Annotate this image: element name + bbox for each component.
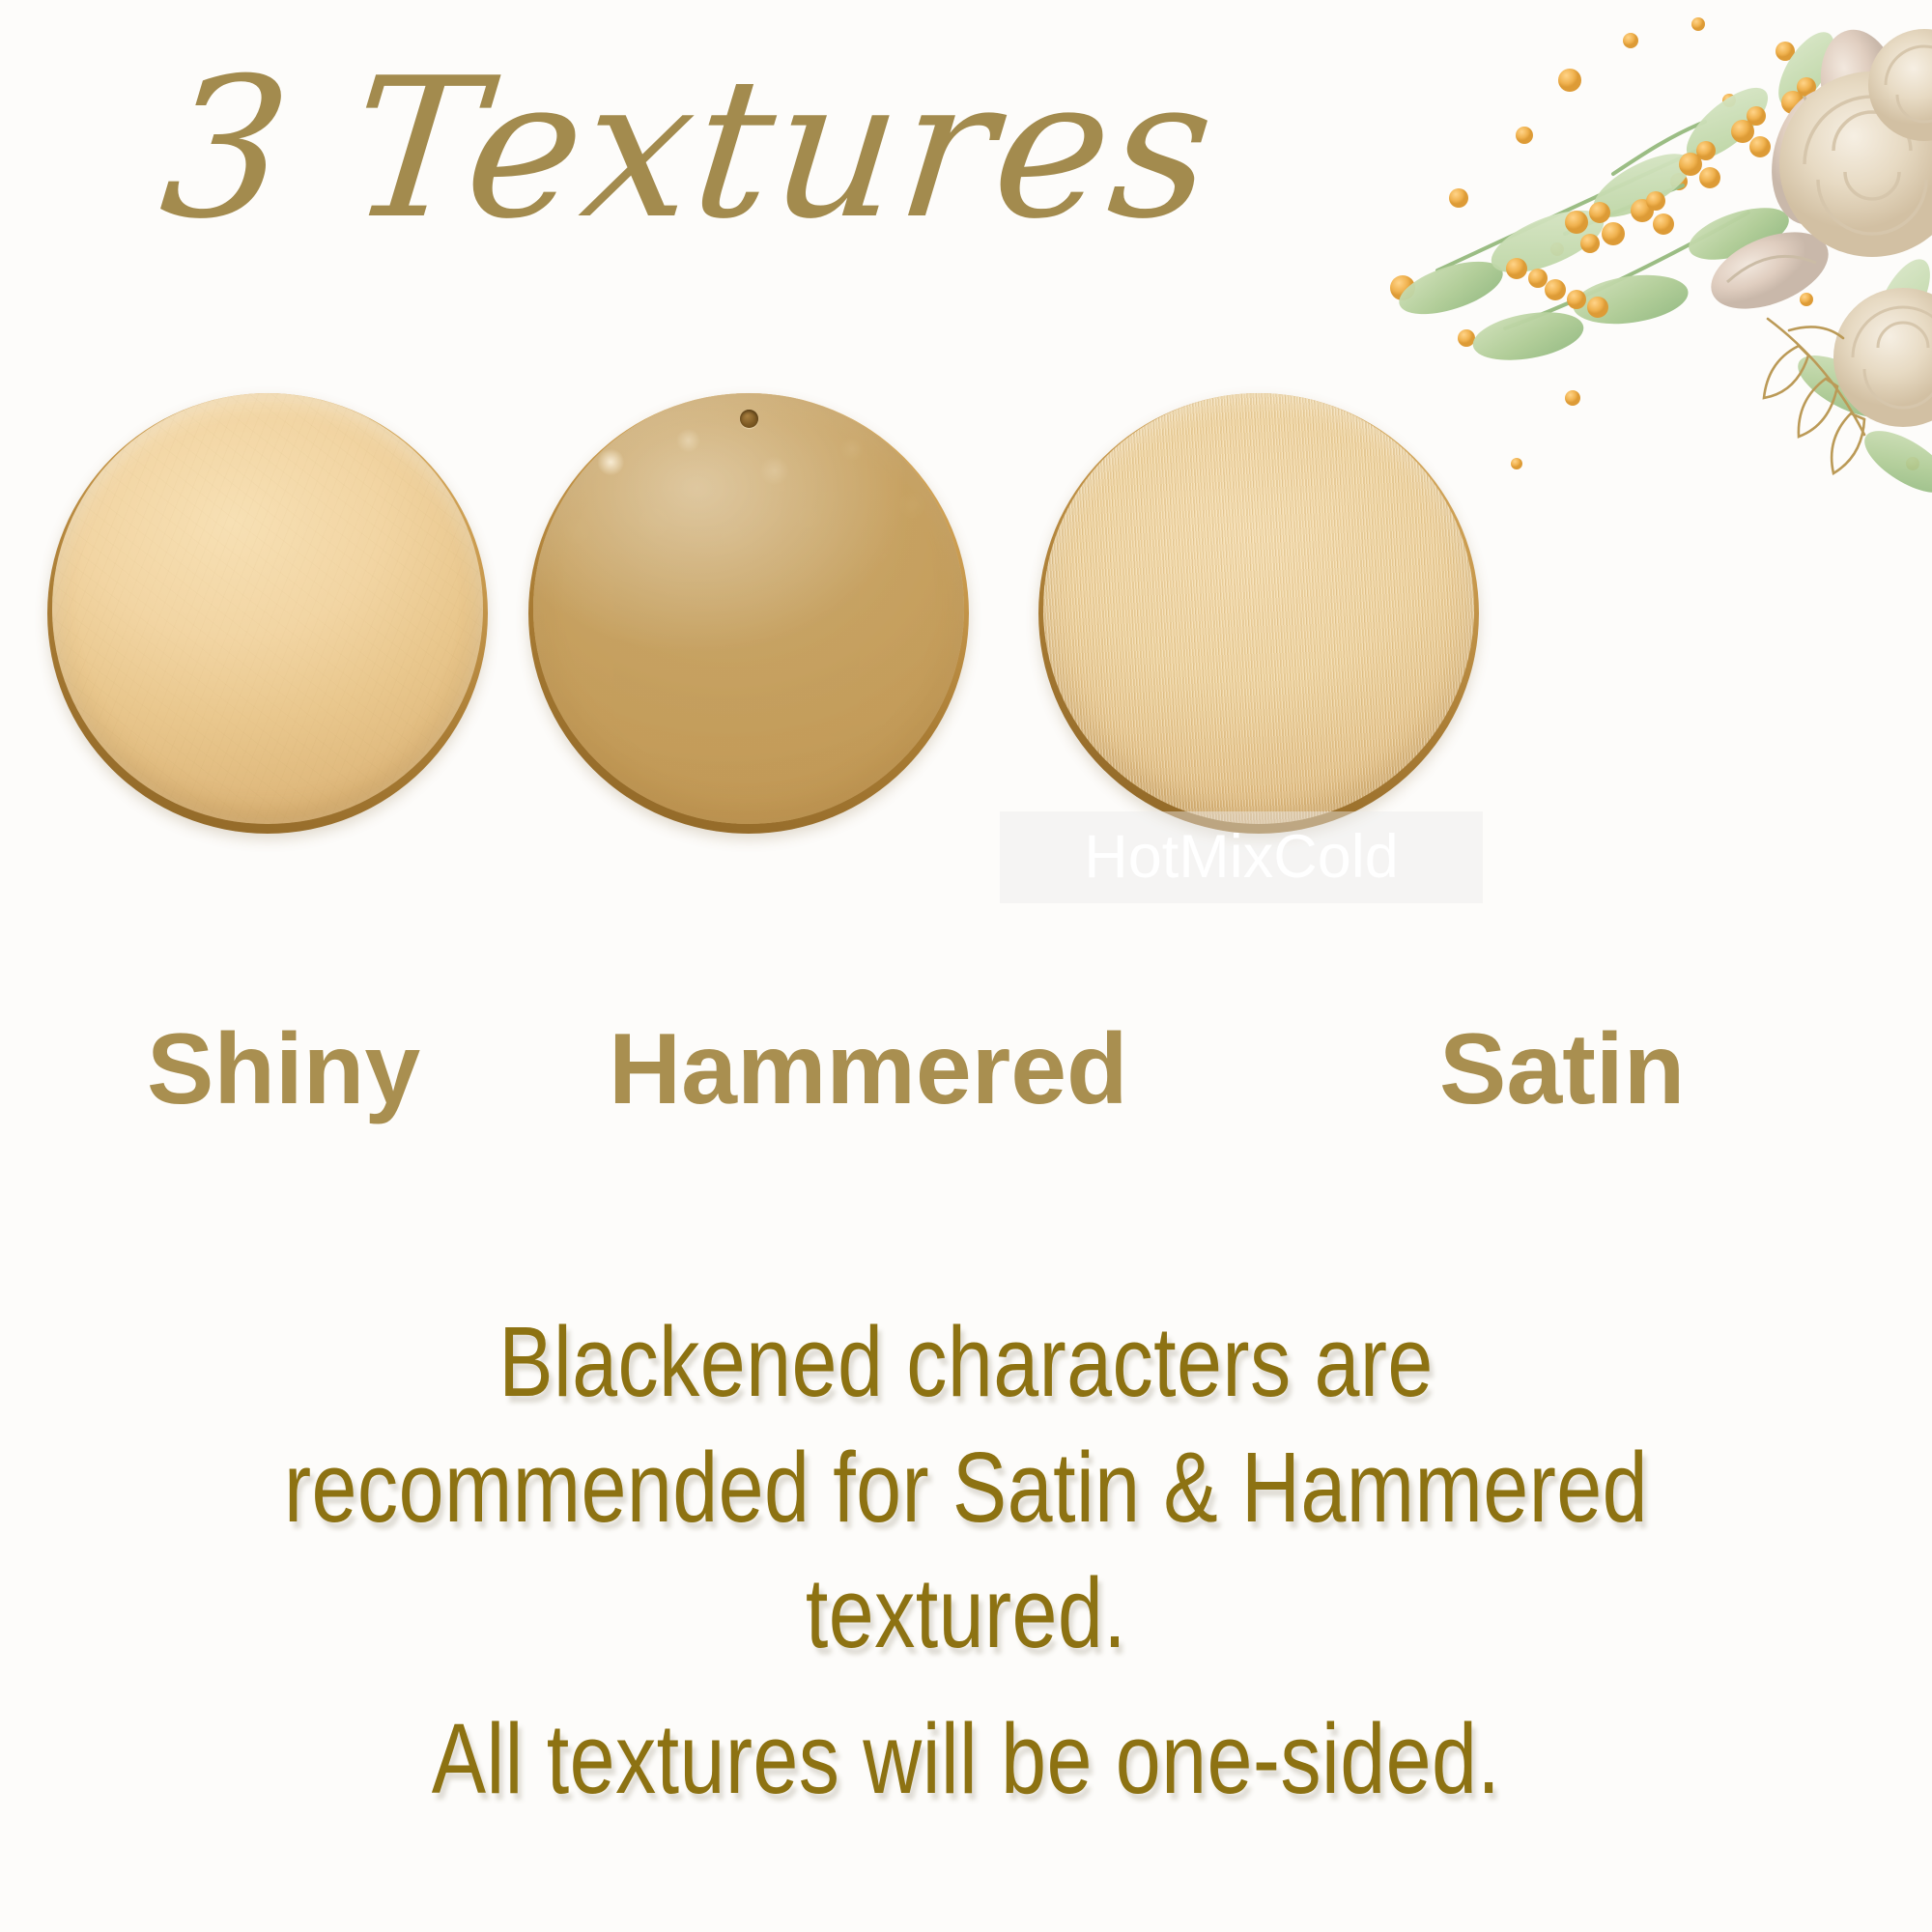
note-line-3: textured. [221,1550,1711,1676]
satin-texture-surface [1043,393,1474,824]
note-line-2: recommended for Satin & Hammered [221,1425,1711,1550]
label-hammered: Hammered [609,1019,1128,1120]
shiny-texture-surface [52,393,483,824]
page-title: 3 Textures [154,53,1188,246]
watermark: HotMixCold [1000,811,1483,903]
texture-samples-row [0,391,1932,826]
disc-face [531,391,966,826]
label-shiny: Shiny [147,1019,420,1120]
label-satin: Satin [1439,1019,1685,1120]
disc-sample-satin[interactable] [1041,391,1476,826]
product-infographic: 3 Textures [0,0,1932,1932]
disc-sample-shiny[interactable] [50,391,485,826]
disc-sample-hammered[interactable] [531,391,966,826]
rose-group [1779,29,1932,427]
note-line-1: Blackened characters are [221,1299,1711,1425]
disc-face [1041,391,1476,826]
stem-group [1437,122,1748,328]
watermark-text: HotMixCold [1084,827,1399,888]
rose-bud-group [1700,22,1911,324]
berry-cluster-group [1506,34,1871,318]
disc-face [50,391,485,826]
disclaimer-note: Blackened characters are recommended for… [221,1299,1711,1822]
hammered-texture-surface [533,393,964,824]
note-line-4: All textures will be one-sided. [221,1696,1711,1822]
texture-labels-row: Shiny Hammered Satin [0,1019,1932,1164]
drilled-hole-icon [740,410,758,428]
